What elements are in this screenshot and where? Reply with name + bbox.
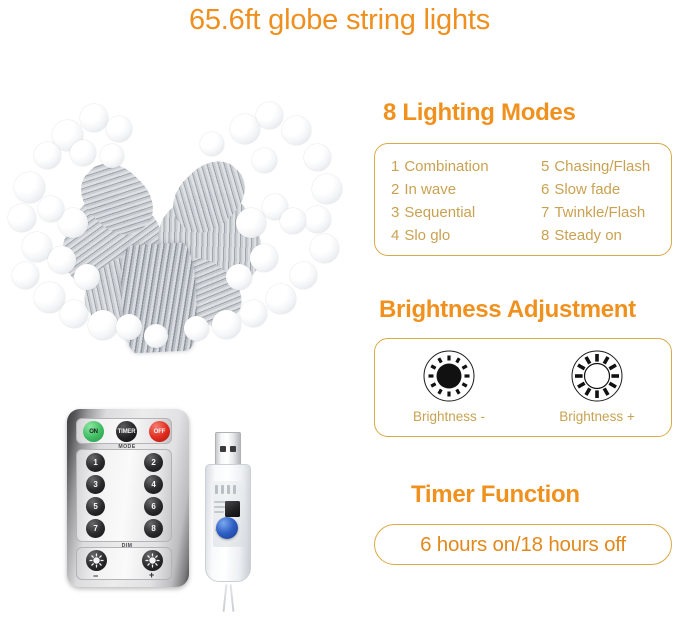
sun-icon	[89, 553, 104, 568]
brightness-down-label: Brightness -	[413, 409, 485, 424]
remote-button-dim-up[interactable]	[142, 550, 163, 571]
remote-button-off[interactable]: OFF	[149, 421, 170, 442]
timer-box: 6 hours on/18 hours off	[374, 524, 672, 565]
brightness-up-cell: Brightness +	[532, 349, 662, 424]
mode-item-2: 2In wave	[391, 178, 541, 201]
remote-button-mode-1[interactable]: 1	[86, 453, 105, 472]
usb-connector	[205, 432, 251, 597]
modes-heading: 8 Lighting Modes	[383, 99, 576, 127]
remote-button-mode-3[interactable]: 3	[86, 475, 105, 494]
brightness-heading: Brightness Adjustment	[379, 296, 636, 324]
mode-label: Sequential	[404, 204, 475, 221]
sun-filled-icon	[422, 349, 476, 403]
mode-number: 4	[391, 227, 399, 244]
mode-number: 2	[391, 181, 399, 198]
brightness-box: Brightness -	[374, 338, 672, 437]
remote-button-mode-2[interactable]: 2	[144, 453, 163, 472]
brightness-down-cell: Brightness -	[384, 349, 514, 424]
mode-label: Twinkle/Flash	[554, 204, 645, 221]
mode-item-1: 1Combination	[391, 155, 541, 178]
mode-label: Slo glo	[404, 227, 450, 244]
remote-button-timer[interactable]: TIMER	[116, 421, 137, 442]
mode-label: Combination	[404, 158, 488, 175]
mode-number: 8	[541, 227, 549, 244]
timer-value: 6 hours on/18 hours off	[420, 533, 626, 557]
mode-item-4: 4Slo glo	[391, 224, 541, 247]
mode-label: Steady on	[554, 227, 622, 244]
sun-hollow-icon	[570, 349, 624, 403]
remote-dim-up-sign: +	[149, 571, 154, 580]
sun-icon	[145, 553, 160, 568]
mode-item-8: 8Steady on	[541, 224, 671, 247]
mode-number: 3	[391, 204, 399, 221]
page-title: 65.6ft globe string lights	[0, 4, 679, 37]
mode-item-3: 3Sequential	[391, 201, 541, 224]
usb-transparent-housing	[205, 464, 251, 582]
brightness-up-label: Brightness +	[559, 409, 634, 424]
modes-box: 1Combination 5Chasing/Flash 2In wave 6Sl…	[374, 143, 672, 256]
mode-number: 6	[541, 181, 549, 198]
remote-button-on[interactable]: ON	[83, 421, 104, 442]
remote-button-mode-8[interactable]: 8	[144, 519, 163, 538]
mode-item-5: 5Chasing/Flash	[541, 155, 671, 178]
mode-item-6: 6Slow fade	[541, 178, 671, 201]
product-photo-string-lights	[4, 86, 344, 348]
remote-button-mode-6[interactable]: 6	[144, 497, 163, 516]
modes-grid: 1Combination 5Chasing/Flash 2In wave 6Sl…	[375, 144, 671, 255]
remote-control: ON TIMER OFF MODE 1 2 3 4 5 6 7 8 DIM	[67, 409, 189, 587]
remote-button-mode-7[interactable]: 7	[86, 519, 105, 538]
mode-label: In wave	[404, 181, 456, 198]
remote-button-mode-4[interactable]: 4	[144, 475, 163, 494]
usb-metal-plug	[215, 432, 241, 468]
remote-button-mode-5[interactable]: 5	[86, 497, 105, 516]
mode-number: 1	[391, 158, 399, 175]
mode-label: Chasing/Flash	[554, 158, 650, 175]
mode-number: 7	[541, 204, 549, 221]
remote-mode-label: MODE	[104, 444, 150, 450]
mode-label: Slow fade	[554, 181, 620, 198]
remote-dim-down-sign: −	[93, 572, 98, 581]
usb-cable-wire-left	[223, 584, 228, 612]
timer-heading: Timer Function	[411, 481, 580, 509]
remote-button-dim-down[interactable]	[86, 550, 107, 571]
mode-number: 5	[541, 158, 549, 175]
mode-item-7: 7Twinkle/Flash	[541, 201, 671, 224]
usb-chip	[225, 501, 240, 517]
remote-dim-label: DIM	[104, 543, 150, 549]
usb-blue-component	[216, 517, 238, 539]
usb-cable-wire-right	[230, 584, 235, 612]
